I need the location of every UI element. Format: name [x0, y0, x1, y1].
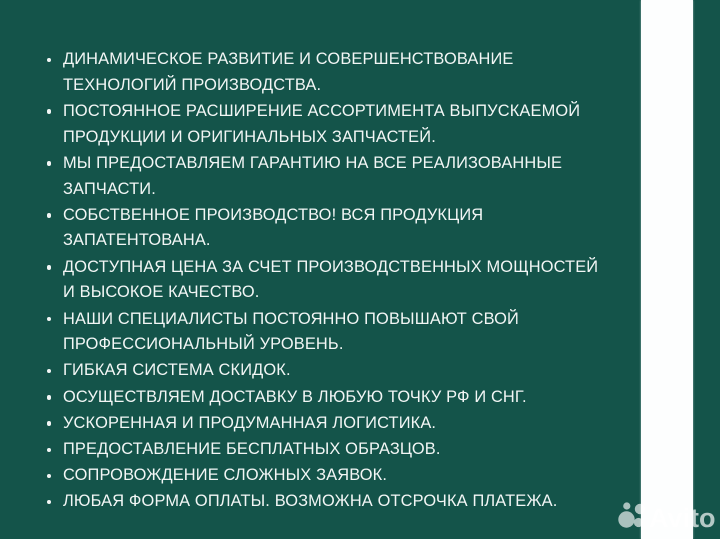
benefits-bullet-list: ДИНАМИЧЕСКОЕ РАЗВИТИЕ И СОВЕРШЕНСТВОВАНИ…	[44, 47, 610, 516]
list-item-label: ГИБКАЯ СИСТЕМА СКИДОК.	[63, 358, 610, 384]
list-item-label: ПОСТОЯННОЕ РАСШИРЕНИЕ АССОРТИМЕНТА ВЫПУС…	[63, 99, 610, 150]
bullet-dot-icon	[47, 500, 51, 504]
bullet-dot-icon	[47, 317, 51, 321]
list-item: НАШИ СПЕЦИАЛИСТЫ ПОСТОЯННО ПОВЫШАЮТ СВОЙ…	[44, 307, 610, 358]
bullet-dot-icon	[47, 265, 51, 269]
list-item-label: ДИНАМИЧЕСКОЕ РАЗВИТИЕ И СОВЕРШЕНСТВОВАНИ…	[63, 47, 610, 98]
list-item-label: МЫ ПРЕДОСТАВЛЯЕМ ГАРАНТИЮ НА ВСЕ РЕАЛИЗО…	[63, 151, 610, 202]
bullet-dot-icon	[47, 474, 51, 478]
list-item: ГИБКАЯ СИСТЕМА СКИДОК.	[44, 358, 610, 384]
list-item: ПРЕДОСТАВЛЕНИЕ БЕСПЛАТНЫХ ОБРАЗЦОВ.	[44, 437, 610, 463]
list-item: ДОСТУПНАЯ ЦЕНА ЗА СЧЕТ ПРОИЗВОДСТВЕННЫХ …	[44, 255, 610, 306]
list-item: МЫ ПРЕДОСТАВЛЯЕМ ГАРАНТИЮ НА ВСЕ РЕАЛИЗО…	[44, 151, 610, 202]
list-item: ПОСТОЯННОЕ РАСШИРЕНИЕ АССОРТИМЕНТА ВЫПУС…	[44, 99, 610, 150]
list-item: ДИНАМИЧЕСКОЕ РАЗВИТИЕ И СОВЕРШЕНСТВОВАНИ…	[44, 47, 610, 98]
bullet-dot-icon	[47, 213, 51, 217]
list-item-label: ЛЮБАЯ ФОРМА ОПЛАТЫ. ВОЗМОЖНА ОТСРОЧКА ПЛ…	[63, 489, 610, 515]
list-item-label: СОБСТВЕННОЕ ПРОИЗВОДСТВО! ВСЯ ПРОДУКЦИЯ …	[63, 203, 610, 254]
bullet-dot-icon	[47, 369, 51, 373]
list-item: УСКОРЕННАЯ И ПРОДУМАННАЯ ЛОГИСТИКА.	[44, 411, 610, 437]
list-item: СОБСТВЕННОЕ ПРОИЗВОДСТВО! ВСЯ ПРОДУКЦИЯ …	[44, 203, 610, 254]
bullet-dot-icon	[47, 448, 51, 452]
list-item-label: ОСУЩЕСТВЛЯЕМ ДОСТАВКУ В ЛЮБУЮ ТОЧКУ РФ И…	[63, 385, 610, 411]
list-item-label: НАШИ СПЕЦИАЛИСТЫ ПОСТОЯННО ПОВЫШАЮТ СВОЙ…	[63, 307, 610, 358]
presentation-slide: ДИНАМИЧЕСКОЕ РАЗВИТИЕ И СОВЕРШЕНСТВОВАНИ…	[0, 0, 720, 539]
list-item-label: ПРЕДОСТАВЛЕНИЕ БЕСПЛАТНЫХ ОБРАЗЦОВ.	[63, 437, 610, 463]
list-item: ОСУЩЕСТВЛЯЕМ ДОСТАВКУ В ЛЮБУЮ ТОЧКУ РФ И…	[44, 385, 610, 411]
bullet-dot-icon	[47, 421, 51, 425]
bullet-dot-icon	[47, 395, 51, 399]
bullet-dot-icon	[47, 109, 51, 113]
decorative-vertical-stripe	[641, 0, 693, 539]
list-item-label: ДОСТУПНАЯ ЦЕНА ЗА СЧЕТ ПРОИЗВОДСТВЕННЫХ …	[63, 255, 610, 306]
list-item-label: СОПРОВОЖДЕНИЕ СЛОЖНЫХ ЗАЯВОК.	[63, 463, 610, 489]
bullet-dot-icon	[47, 58, 51, 62]
bullet-dot-icon	[47, 161, 51, 165]
list-item-label: УСКОРЕННАЯ И ПРОДУМАННАЯ ЛОГИСТИКА.	[63, 411, 610, 437]
list-item: СОПРОВОЖДЕНИЕ СЛОЖНЫХ ЗАЯВОК.	[44, 463, 610, 489]
list-item: ЛЮБАЯ ФОРМА ОПЛАТЫ. ВОЗМОЖНА ОТСРОЧКА ПЛ…	[44, 489, 610, 515]
